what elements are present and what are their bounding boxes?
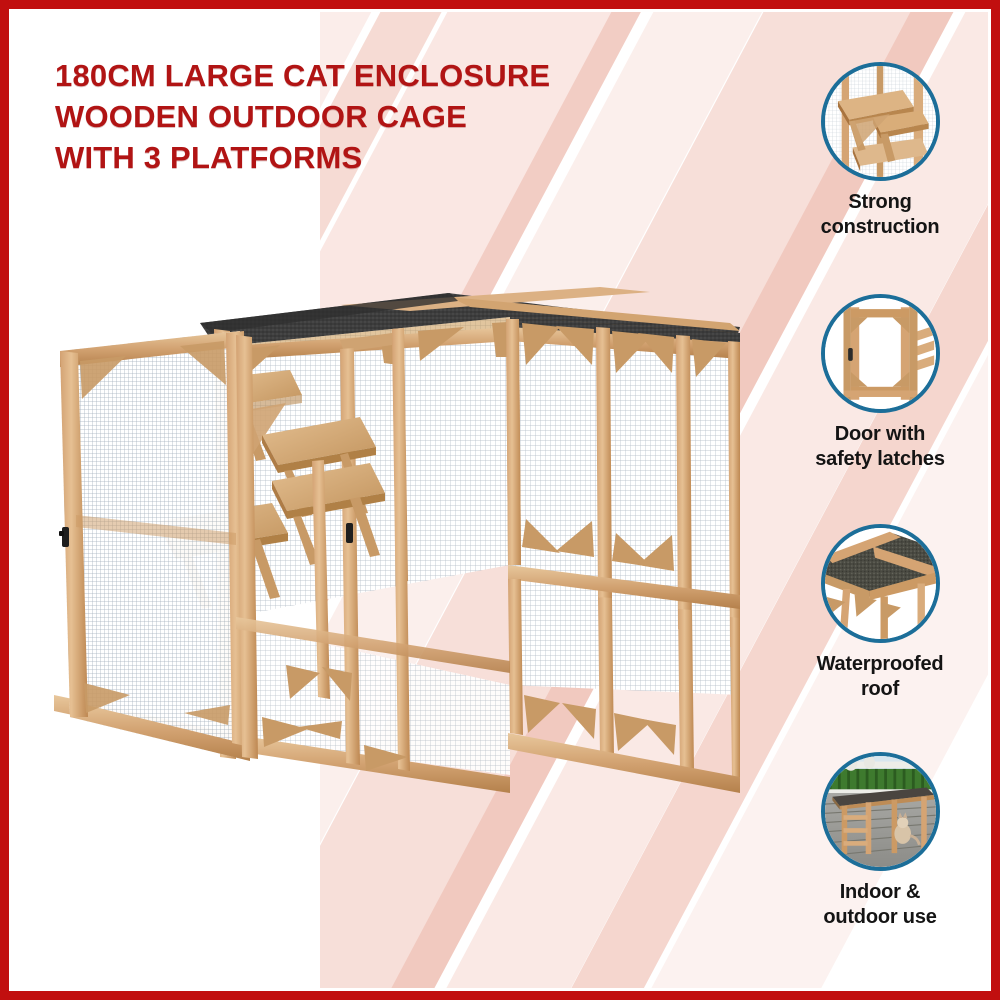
product-photo-cat-enclosure	[40, 265, 770, 825]
feature-waterproofed-roof: Waterproofed roof	[780, 524, 980, 702]
feature-caption-line-1: Door with	[780, 422, 980, 447]
feature-caption-line-1: Indoor &	[780, 880, 980, 905]
feature-caption-line-2: safety latches	[780, 447, 980, 472]
feature-caption: Strong construction	[780, 190, 980, 240]
product-marketing-image: 180CM LARGE CAT ENCLOSURE WOODEN OUTDOOR…	[0, 0, 1000, 1000]
roof-photo-icon	[821, 524, 940, 643]
door-frame-photo-icon	[821, 294, 940, 413]
feature-caption: Indoor & outdoor use	[780, 880, 980, 930]
page-title: 180CM LARGE CAT ENCLOSURE WOODEN OUTDOOR…	[55, 55, 695, 178]
feature-caption-line-2: construction	[780, 215, 980, 240]
title-line-3: WITH 3 PLATFORMS	[55, 137, 695, 178]
feature-caption-line-2: outdoor use	[780, 905, 980, 930]
feature-caption-line-2: roof	[780, 677, 980, 702]
feature-door-safety-latches: Door with safety latches	[780, 294, 980, 472]
feature-caption-line-1: Strong	[780, 190, 980, 215]
feature-caption: Waterproofed roof	[780, 652, 980, 702]
feature-strong-construction: Strong construction	[780, 62, 980, 240]
title-line-2: WOODEN OUTDOOR CAGE	[55, 96, 695, 137]
deck-scene-photo-icon	[821, 752, 940, 871]
feature-caption: Door with safety latches	[780, 422, 980, 472]
platforms-photo-icon	[821, 62, 940, 181]
feature-indoor-outdoor-use: Indoor & outdoor use	[780, 752, 980, 930]
feature-callout-list: Strong construction	[780, 62, 980, 992]
title-line-1: 180CM LARGE CAT ENCLOSURE	[55, 55, 695, 96]
feature-caption-line-1: Waterproofed	[780, 652, 980, 677]
